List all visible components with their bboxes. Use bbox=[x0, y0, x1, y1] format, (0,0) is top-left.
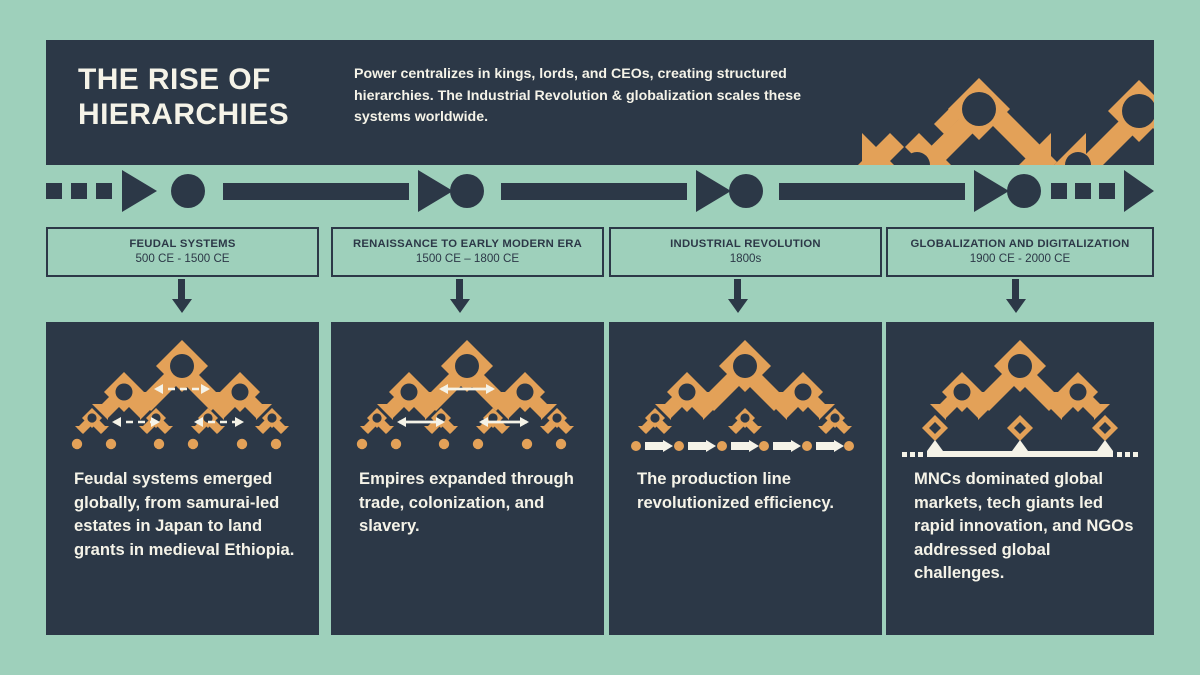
infographic-canvas: THE RISE OF HIERARCHIES Power centralize… bbox=[0, 0, 1200, 675]
card-feudal-systems[interactable]: Feudal systems emerged globally, from sa… bbox=[46, 322, 319, 635]
header-description: Power centralizes in kings, lords, and C… bbox=[354, 64, 824, 129]
baseline-axis bbox=[902, 440, 1138, 457]
era-range: 1500 CE – 1800 CE bbox=[416, 253, 519, 266]
connector-arrow-down bbox=[172, 279, 192, 313]
page-title: THE RISE OF HIERARCHIES bbox=[78, 62, 368, 133]
timeline-arrow-right bbox=[696, 170, 731, 212]
era-box-globalization-and-digitalization[interactable]: GLOBALIZATION AND DIGITALIZATION 1900 CE… bbox=[886, 227, 1154, 277]
era-range: 1800s bbox=[730, 253, 762, 266]
timeline-arrow-right bbox=[974, 170, 1009, 212]
era-box-feudal-systems[interactable]: FEUDAL SYSTEMS 500 CE - 1500 CE bbox=[46, 227, 319, 277]
hierarchy-tree-production-line-arrows-icon bbox=[609, 330, 882, 462]
card-globalization-and-digitalization[interactable]: MNCs dominated global markets, tech gian… bbox=[886, 322, 1154, 635]
baseline-marker bbox=[1097, 440, 1113, 451]
timeline-dot-square bbox=[96, 183, 112, 199]
era-box-industrial-revolution[interactable]: INDUSTRIAL REVOLUTION 1800s bbox=[609, 227, 882, 277]
timeline-dot-square bbox=[1075, 183, 1091, 199]
timeline-bar bbox=[223, 183, 409, 200]
connector-arrow-down bbox=[450, 279, 470, 313]
connector-arrow-down bbox=[728, 279, 748, 313]
card-industrial-revolution[interactable]: The production line revolutionized effic… bbox=[609, 322, 882, 635]
era-range: 1900 CE - 2000 CE bbox=[970, 253, 1071, 266]
era-range: 500 CE - 1500 CE bbox=[135, 253, 229, 266]
timeline-circle bbox=[729, 174, 763, 208]
era-name: FEUDAL SYSTEMS bbox=[129, 238, 235, 250]
timeline-dot-square bbox=[1099, 183, 1115, 199]
timeline-dot-square bbox=[71, 183, 87, 199]
era-box-renaissance-to-early-modern-era[interactable]: RENAISSANCE TO EARLY MODERN ERA 1500 CE … bbox=[331, 227, 604, 277]
card-description: Feudal systems emerged globally, from sa… bbox=[74, 467, 299, 561]
baseline-marker bbox=[927, 440, 943, 451]
card-description: Empires expanded through trade, coloniza… bbox=[359, 467, 584, 538]
timeline-dot-square bbox=[1051, 183, 1067, 199]
connector-arrow-down bbox=[1006, 279, 1026, 313]
timeline-arrow-right bbox=[1124, 170, 1154, 212]
timeline-bar bbox=[779, 183, 965, 200]
timeline-dot-square bbox=[46, 183, 62, 199]
card-row: Feudal systems emerged globally, from sa… bbox=[46, 322, 1154, 635]
card-description: MNCs dominated global markets, tech gian… bbox=[914, 467, 1134, 585]
timeline-bar bbox=[501, 183, 687, 200]
card-description: The production line revolutionized effic… bbox=[637, 467, 862, 514]
connector-arrow-row bbox=[46, 279, 1154, 323]
hierarchy-peaks-pattern-icon bbox=[814, 40, 1154, 165]
timeline-circle bbox=[450, 174, 484, 208]
timeline-strip bbox=[46, 168, 1154, 213]
timeline-arrow-right bbox=[122, 170, 157, 212]
header-banner: THE RISE OF HIERARCHIES Power centralize… bbox=[46, 40, 1154, 165]
baseline-marker bbox=[1012, 440, 1028, 451]
era-name: RENAISSANCE TO EARLY MODERN ERA bbox=[353, 238, 582, 250]
hierarchy-tree-solid-bidirectional-arrows-icon bbox=[331, 330, 604, 462]
era-name: GLOBALIZATION AND DIGITALIZATION bbox=[910, 238, 1129, 250]
timeline-circle bbox=[1007, 174, 1041, 208]
timeline-arrow-right bbox=[418, 170, 453, 212]
card-renaissance-to-early-modern-era[interactable]: Empires expanded through trade, coloniza… bbox=[331, 322, 604, 635]
era-name: INDUSTRIAL REVOLUTION bbox=[670, 238, 821, 250]
hierarchy-tree-diamond-leaves-baseline-icon bbox=[886, 330, 1154, 462]
hierarchy-tree-dashed-bidirectional-arrows-icon bbox=[46, 330, 319, 462]
timeline-circle bbox=[171, 174, 205, 208]
era-label-row: FEUDAL SYSTEMS 500 CE - 1500 CE RENAISSA… bbox=[46, 227, 1154, 279]
